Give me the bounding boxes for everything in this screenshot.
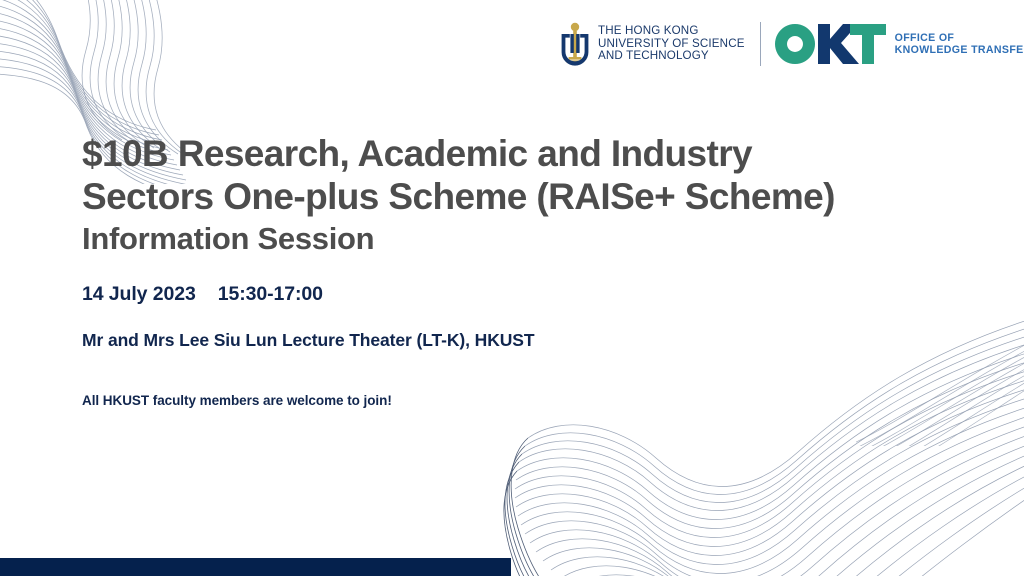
logo-divider [760,22,761,66]
footer-accent-bar [0,558,511,576]
event-welcome-note: All HKUST faculty members are welcome to… [82,393,982,408]
event-datetime: 14 July 2023 15:30-17:00 [82,283,982,306]
hkust-logo: THE HONG KONG UNIVERSITY OF SCIENCE AND … [560,22,745,66]
event-subtitle: Information Session [82,219,982,259]
event-title-line2: Sectors One-plus Scheme (RAISe+ Scheme) [82,175,982,218]
okt-tagline-line1: OFFICE OF [895,32,1024,44]
event-venue: Mr and Mrs Lee Siu Lun Lecture Theater (… [82,330,982,351]
hkust-wordmark-line3: AND TECHNOLOGY [598,50,745,63]
hkust-wordmark-line1: THE HONG KONG [598,25,745,38]
event-poster: THE HONG KONG UNIVERSITY OF SCIENCE AND … [0,0,1024,576]
okt-logo: OFFICE OF KNOWLEDGE TRANSFER [774,24,1024,64]
event-title-line1: $10B Research, Academic and Industry [82,132,982,175]
poster-content: $10B Research, Academic and Industry Sec… [82,132,982,408]
logo-bar: THE HONG KONG UNIVERSITY OF SCIENCE AND … [560,14,1010,74]
hkust-wordmark: THE HONG KONG UNIVERSITY OF SCIENCE AND … [598,25,745,63]
hkust-crest-icon [560,22,590,66]
okt-tagline: OFFICE OF KNOWLEDGE TRANSFER [895,32,1024,57]
event-time: 15:30-17:00 [218,283,323,306]
okt-monogram-icon [774,24,886,64]
okt-tagline-line2: KNOWLEDGE TRANSFER [895,44,1024,56]
event-date: 14 July 2023 [82,283,196,306]
